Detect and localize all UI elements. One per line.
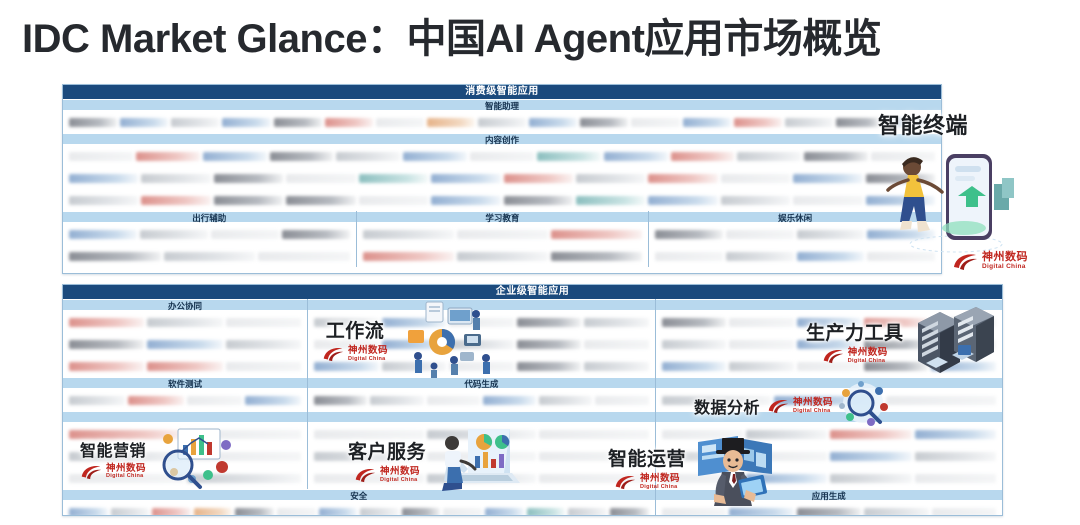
consumer-section-label-1: 内容创作 xyxy=(63,133,941,145)
vendor-logo xyxy=(729,318,793,327)
vendor-logo xyxy=(915,452,996,461)
enterprise-cell-security: 安全 xyxy=(63,489,655,516)
vendor-logo xyxy=(314,396,367,405)
logo-row xyxy=(308,389,654,411)
logo-row xyxy=(308,467,654,489)
vendor-logo xyxy=(836,118,884,127)
logo-row xyxy=(649,223,941,245)
vendor-logo xyxy=(152,508,191,517)
vendor-logo xyxy=(721,174,790,183)
logo-row xyxy=(63,145,941,167)
logo-row xyxy=(656,445,1002,467)
consumer-section-label-0: 智能助理 xyxy=(63,99,941,111)
enterprise-row3-label-1 xyxy=(308,411,654,423)
digital-china-logo: 神州数码 Digital China xyxy=(952,252,1028,271)
vendor-logo xyxy=(864,340,928,349)
vendor-logo xyxy=(187,430,302,439)
enterprise-column-label-2 xyxy=(656,299,1002,311)
vendor-logo xyxy=(576,174,645,183)
logo-row xyxy=(63,423,307,445)
vendor-logo xyxy=(584,362,648,371)
enterprise-cell-marketing xyxy=(63,411,307,489)
vendor-logo xyxy=(319,508,358,517)
vendor-logo xyxy=(734,118,782,127)
vendor-logo xyxy=(746,474,827,483)
logo-row xyxy=(63,223,356,245)
vendor-logo xyxy=(662,474,743,483)
logo-row xyxy=(656,423,1002,445)
vendor-logo xyxy=(427,430,536,439)
logo-row xyxy=(63,311,307,333)
logo-row xyxy=(649,245,941,267)
vendor-logo xyxy=(529,118,577,127)
consumer-panel: 消费级智能应用 智能助理 内容创作 xyxy=(62,84,942,274)
vendor-logo xyxy=(427,396,480,405)
vendor-logo xyxy=(69,362,144,371)
vendor-logo xyxy=(69,340,144,349)
enterprise-cell-customer-service xyxy=(307,411,654,489)
vendor-logo xyxy=(478,118,526,127)
vendor-logo xyxy=(194,508,233,517)
consumer-column-entertainment: 娱乐休闲 xyxy=(648,211,941,267)
vendor-logo xyxy=(370,396,423,405)
logo-row xyxy=(357,223,649,245)
vendor-logo xyxy=(931,362,995,371)
vendor-logo xyxy=(147,362,222,371)
vendor-logo xyxy=(363,230,454,239)
vendor-logo xyxy=(655,252,723,261)
brand-cn: 神州数码 xyxy=(982,252,1028,263)
vendor-logo xyxy=(610,508,649,517)
logo-row xyxy=(63,467,307,489)
vendor-logo xyxy=(504,196,573,205)
vendor-logo xyxy=(866,196,935,205)
enterprise-row-3 xyxy=(63,411,1002,489)
vendor-logo xyxy=(427,452,536,461)
vendor-logo xyxy=(69,452,184,461)
vendor-logo xyxy=(187,474,302,483)
logo-row xyxy=(656,501,1002,516)
vendor-logo xyxy=(886,396,995,405)
vendor-logo xyxy=(427,118,475,127)
vendor-logo xyxy=(864,362,928,371)
vendor-logo xyxy=(537,152,601,161)
vendor-logo xyxy=(363,252,454,261)
vendor-logo xyxy=(376,118,424,127)
digital-china-wordmark: 神州数码 Digital China xyxy=(982,252,1028,271)
logo-row xyxy=(63,189,941,211)
vendor-logo xyxy=(171,118,219,127)
vendor-logo xyxy=(662,508,726,517)
vendor-logo xyxy=(314,318,378,327)
vendor-logo xyxy=(457,252,548,261)
vendor-logo xyxy=(457,230,548,239)
enterprise-cell-codegen: 代码生成 xyxy=(307,377,654,411)
vendor-logo xyxy=(584,340,648,349)
vendor-logo xyxy=(662,340,726,349)
consumer-column-education: 学习教育 xyxy=(356,211,649,267)
vendor-logo xyxy=(69,474,184,483)
vendor-logo xyxy=(580,118,628,127)
vendor-logo xyxy=(648,174,717,183)
vendor-logo xyxy=(359,196,428,205)
vendor-logo xyxy=(648,196,717,205)
vendor-logo xyxy=(277,508,316,517)
logo-row xyxy=(63,501,655,516)
vendor-logo xyxy=(797,252,865,261)
vendor-logo xyxy=(147,340,222,349)
enterprise-cell-analytics xyxy=(655,377,1002,411)
vendor-logo xyxy=(147,318,222,327)
vendor-logo xyxy=(662,430,743,439)
vendor-logo xyxy=(360,508,399,517)
vendor-logo xyxy=(797,508,861,517)
vendor-logo xyxy=(214,174,283,183)
vendor-logo xyxy=(258,252,350,261)
vendor-logo xyxy=(69,152,133,161)
logo-row xyxy=(308,333,654,355)
vendor-logo xyxy=(867,230,935,239)
vendor-logo xyxy=(69,196,138,205)
enterprise-footer-label-1: 应用生成 xyxy=(656,489,1002,501)
logo-row xyxy=(308,423,654,445)
vendor-logo xyxy=(539,474,648,483)
vendor-logo xyxy=(314,340,378,349)
logo-row xyxy=(656,467,1002,489)
enterprise-cell-testing: 软件测试 xyxy=(63,377,307,411)
vendor-logo xyxy=(568,508,607,517)
vendor-logo xyxy=(729,362,793,371)
vendor-logo xyxy=(915,474,996,483)
vendor-logo xyxy=(69,230,137,239)
vendor-logo xyxy=(69,318,144,327)
vendor-logo xyxy=(245,396,301,405)
logo-row xyxy=(63,167,941,189)
vendor-logo xyxy=(797,318,861,327)
vendor-logo xyxy=(866,174,935,183)
vendor-logo xyxy=(69,396,125,405)
vendor-logo xyxy=(286,174,355,183)
logo-row xyxy=(308,311,654,333)
vendor-logo xyxy=(871,152,935,161)
vendor-logo xyxy=(517,318,581,327)
vendor-logo xyxy=(683,118,731,127)
vendor-logo xyxy=(931,340,995,349)
vendor-logo xyxy=(140,230,208,239)
logo-row xyxy=(656,389,1002,411)
vendor-logo xyxy=(864,508,928,517)
vendor-logo xyxy=(235,508,274,517)
vendor-logo xyxy=(286,196,355,205)
vendor-logo xyxy=(797,362,861,371)
vendor-logo xyxy=(314,362,378,371)
vendor-logo xyxy=(485,508,524,517)
vendor-logo xyxy=(431,174,500,183)
vendor-logo xyxy=(120,118,168,127)
vendor-logo xyxy=(314,474,423,483)
vendor-logo xyxy=(539,396,592,405)
consumer-column-label-2: 娱乐休闲 xyxy=(649,211,941,223)
vendor-logo xyxy=(136,152,200,161)
vendor-logo xyxy=(214,196,283,205)
enterprise-row2-label-2 xyxy=(656,377,1002,389)
vendor-logo xyxy=(932,508,996,517)
vendor-logo xyxy=(517,362,581,371)
vendor-logo xyxy=(382,340,446,349)
vendor-logo xyxy=(793,196,862,205)
vendor-logo xyxy=(830,430,911,439)
consumer-column-label-0: 出行辅助 xyxy=(63,211,356,223)
enterprise-cell-office: 办公协同 xyxy=(63,299,307,377)
enterprise-row-2: 软件测试 代码生成 xyxy=(63,377,1002,411)
vendor-logo xyxy=(282,230,350,239)
vendor-logo xyxy=(359,174,428,183)
vendor-logo xyxy=(449,318,513,327)
vendor-logo xyxy=(737,152,801,161)
vendor-logo xyxy=(443,508,482,517)
consumer-column-travel: 出行辅助 xyxy=(63,211,356,267)
vendor-logo xyxy=(187,396,243,405)
logo-row xyxy=(656,311,1002,333)
vendor-logo xyxy=(226,340,301,349)
vendor-logo xyxy=(226,318,301,327)
vendor-logo xyxy=(584,318,648,327)
enterprise-footer-row: 安全 应用生 xyxy=(63,489,1002,516)
vendor-logo xyxy=(785,118,833,127)
vendor-logo xyxy=(226,362,301,371)
enterprise-cell-operations xyxy=(655,411,1002,489)
vendor-logo xyxy=(662,318,726,327)
enterprise-column-label-0: 办公协同 xyxy=(63,299,307,311)
vendor-logo xyxy=(504,174,573,183)
vendor-logo xyxy=(830,474,911,483)
vendor-logo xyxy=(187,452,302,461)
enterprise-row-1: 办公协同 xyxy=(63,299,1002,377)
vendor-logo xyxy=(222,118,270,127)
vendor-logo xyxy=(830,452,911,461)
enterprise-footer-label-0: 安全 xyxy=(63,489,655,501)
vendor-logo xyxy=(449,340,513,349)
logo-row xyxy=(63,333,307,355)
page-title: IDC Market Glance：中国AI Agent应用市场概览 xyxy=(22,16,881,62)
enterprise-cell-productivity xyxy=(655,299,1002,377)
vendor-logo xyxy=(69,118,117,127)
logo-row xyxy=(63,445,307,467)
vendor-logo xyxy=(325,118,373,127)
vendor-logo xyxy=(164,252,256,261)
vendor-logo xyxy=(746,430,827,439)
vendor-logo xyxy=(483,396,536,405)
consumer-heading: 消费级智能应用 xyxy=(63,85,941,99)
vendor-logo xyxy=(671,152,735,161)
vendor-logo xyxy=(141,174,210,183)
vendor-logo xyxy=(403,152,467,161)
vendor-logo xyxy=(662,452,743,461)
logo-row xyxy=(308,445,654,467)
enterprise-row2-label-0: 软件测试 xyxy=(63,377,307,389)
vendor-logo xyxy=(270,152,334,161)
vendor-logo xyxy=(793,174,862,183)
enterprise-cell-workflow xyxy=(307,299,654,377)
vendor-logo xyxy=(804,152,868,161)
vendor-logo xyxy=(887,118,935,127)
logo-row xyxy=(357,245,649,267)
vendor-logo xyxy=(595,396,648,405)
enterprise-column-label-1 xyxy=(308,299,654,311)
vendor-logo xyxy=(631,118,679,127)
vendor-logo xyxy=(576,196,645,205)
enterprise-panel: 企业级智能应用 办公协同 xyxy=(62,284,1003,516)
vendor-logo xyxy=(721,196,790,205)
vendor-logo xyxy=(655,230,723,239)
enterprise-cell-appgen: 应用生成 xyxy=(655,489,1002,516)
vendor-logo xyxy=(527,508,566,517)
vendor-logo xyxy=(746,452,827,461)
consumer-columns: 出行辅助 学习教育 xyxy=(63,211,941,267)
logo-row xyxy=(308,355,654,377)
enterprise-row2-label-1: 代码生成 xyxy=(308,377,654,389)
vendor-logo xyxy=(915,430,996,439)
logo-row xyxy=(656,355,1002,377)
vendor-logo xyxy=(539,430,648,439)
vendor-logo xyxy=(729,508,793,517)
vendor-logo xyxy=(729,340,793,349)
enterprise-row3-label-0 xyxy=(63,411,307,423)
vendor-logo xyxy=(517,340,581,349)
vendor-logo xyxy=(797,340,861,349)
vendor-logo xyxy=(726,252,794,261)
vendor-logo xyxy=(69,174,138,183)
vendor-logo xyxy=(382,318,446,327)
vendor-logo xyxy=(662,396,771,405)
vendor-logo xyxy=(128,396,184,405)
vendor-logo xyxy=(69,430,184,439)
vendor-logo xyxy=(336,152,400,161)
brand-en: Digital China xyxy=(982,264,1028,271)
vendor-logo xyxy=(431,196,500,205)
vendor-logo xyxy=(111,508,150,517)
vendor-logo xyxy=(551,230,642,239)
enterprise-heading: 企业级智能应用 xyxy=(63,285,1002,299)
vendor-logo xyxy=(539,452,648,461)
vendor-logo xyxy=(203,152,267,161)
vendor-logo xyxy=(274,118,322,127)
vendor-logo xyxy=(69,508,108,517)
logo-row xyxy=(63,355,307,377)
vendor-logo xyxy=(551,252,642,261)
logo-row xyxy=(63,389,307,411)
vendor-logo xyxy=(867,252,935,261)
vendor-logo xyxy=(402,508,441,517)
vendor-logo xyxy=(211,230,279,239)
vendor-logo xyxy=(470,152,534,161)
vendor-logo xyxy=(774,396,883,405)
consumer-column-label-1: 学习教育 xyxy=(357,211,649,223)
vendor-logo xyxy=(662,362,726,371)
vendor-logo xyxy=(604,152,668,161)
vendor-logo xyxy=(726,230,794,239)
digital-china-mark-icon xyxy=(952,252,978,271)
vendor-logo xyxy=(427,474,536,483)
vendor-logo xyxy=(931,318,995,327)
vendor-logo xyxy=(382,362,446,371)
vendor-logo xyxy=(314,430,423,439)
logo-row xyxy=(656,333,1002,355)
vendor-logo xyxy=(449,362,513,371)
vendor-logo xyxy=(69,252,161,261)
logo-row xyxy=(63,111,941,133)
vendor-logo xyxy=(141,196,210,205)
vendor-logo xyxy=(314,452,423,461)
enterprise-row3-label-2 xyxy=(656,411,1002,423)
vendor-logo xyxy=(864,318,928,327)
vendor-logo xyxy=(797,230,865,239)
logo-row xyxy=(63,245,356,267)
